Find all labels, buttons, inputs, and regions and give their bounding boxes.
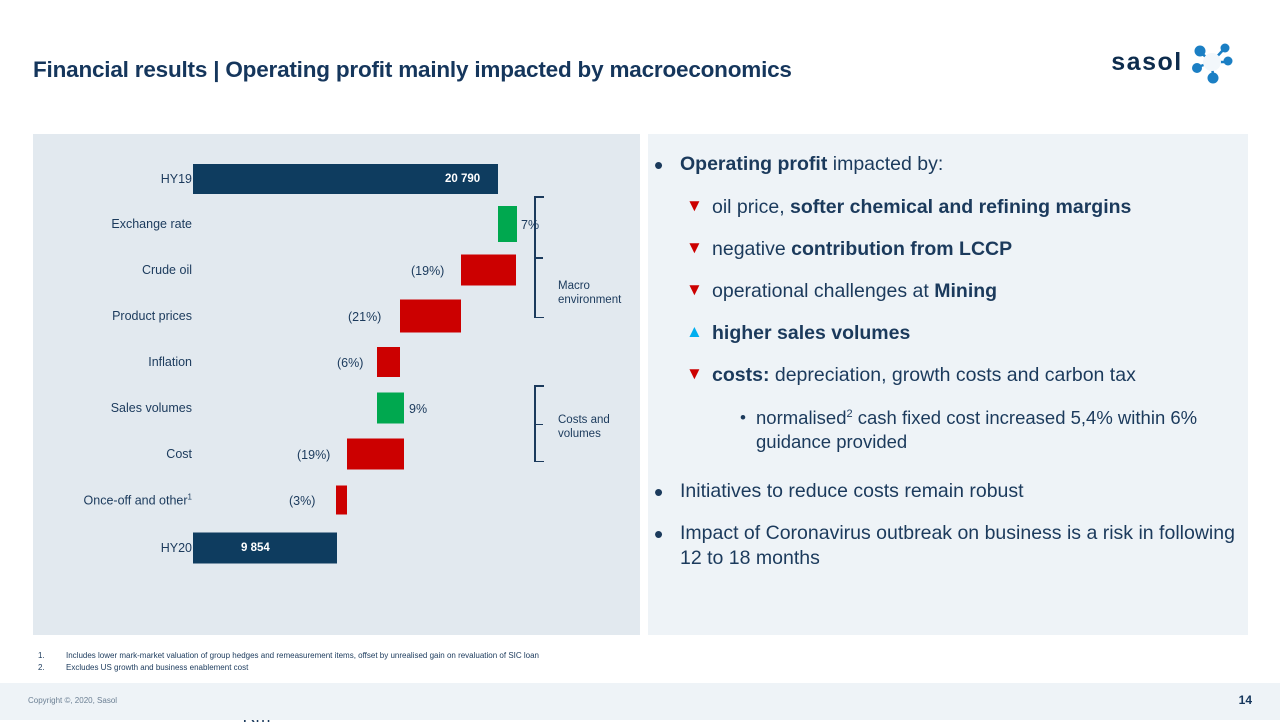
chart-value-label: (19%) <box>411 264 444 278</box>
chart-value-label: (21%) <box>348 310 381 324</box>
molecule-icon <box>1189 40 1235 84</box>
logo-wordmark: sasol <box>1111 48 1182 77</box>
page-title: Financial results | Operating profit mai… <box>33 57 792 83</box>
sub-bullet-text: negative contribution from LCCP <box>712 237 1012 262</box>
chart-category-label: Sales volumes <box>111 401 192 415</box>
bullet-text: Operating profit impacted by: <box>680 152 943 178</box>
footnote-text: Excludes US growth and business enableme… <box>66 662 248 674</box>
chart-value-label: 9% <box>409 402 427 416</box>
chart-bar-once-off <box>336 486 347 515</box>
bullet-text: Initiatives to reduce costs remain robus… <box>680 479 1024 505</box>
sub-bullet-text: higher sales volumes <box>712 321 910 346</box>
chart-bar-inflation <box>377 347 400 377</box>
footnote-number: 1. <box>38 650 66 662</box>
footnote-item: 2. Excludes US growth and business enabl… <box>38 662 798 674</box>
up-triangle-icon: ▲ <box>686 321 712 346</box>
chart-bar-cost <box>347 439 404 470</box>
bullet-dot-icon: • <box>654 521 680 572</box>
chart-value-label: 7% <box>521 218 539 232</box>
chart-value-label: (6%) <box>337 356 363 370</box>
chart-category-label: Inflation <box>148 355 192 369</box>
chart-plot-area: HY19 Exchange rate Crude oil Product pri… <box>33 134 640 635</box>
chart-value-label: (3%) <box>289 494 315 508</box>
chart-category-label: HY19 <box>161 172 192 186</box>
bullet-operating-profit: • Operating profit impacted by: <box>654 152 943 178</box>
bullet-dot-icon: • <box>654 479 680 505</box>
down-triangle-icon: ▼ <box>686 279 712 304</box>
chart-bar-product-prices <box>400 300 461 333</box>
bracket-label-costs-and-volumes: Costs and volumes <box>558 413 610 442</box>
chart-value-label: (19%) <box>297 448 330 462</box>
sub-bullet-normalised-cost: • normalised2 cash fixed cost increased … <box>730 406 1230 454</box>
footnotes: 1. Includes lower mark-market valuation … <box>38 650 798 673</box>
bullet-coronavirus: • Impact of Coronavirus outbreak on busi… <box>654 521 1239 572</box>
small-dot-icon: • <box>730 406 756 454</box>
footnote-item: 1. Includes lower mark-market valuation … <box>38 650 798 662</box>
chart-category-label: Cost <box>166 447 192 461</box>
sub-bullet-text: normalised2 cash fixed cost increased 5,… <box>756 406 1230 454</box>
sub-bullet-costs: ▼ costs: depreciation, growth costs and … <box>686 363 1136 388</box>
page-number: 14 <box>1239 693 1252 707</box>
down-triangle-icon: ▼ <box>686 237 712 262</box>
copyright-text: Copyright ©, 2020, Sasol <box>28 696 117 705</box>
sasol-logo: sasol <box>1098 31 1248 93</box>
chart-value-label: 9 854 <box>241 542 270 554</box>
sub-bullet-sales-volumes: ▲ higher sales volumes <box>686 321 910 346</box>
bullet-dot-icon: • <box>654 152 680 178</box>
sub-bullet-mining: ▼ operational challenges at Mining <box>686 279 997 304</box>
bullet-initiatives: • Initiatives to reduce costs remain rob… <box>654 479 1024 505</box>
chart-category-label: Exchange rate <box>111 217 192 231</box>
chart-bar-exchange-rate <box>498 206 517 242</box>
waterfall-chart-panel: HY19 Exchange rate Crude oil Product pri… <box>33 134 640 635</box>
footer-bar <box>0 683 1280 720</box>
chart-value-label: 20 790 <box>445 173 480 185</box>
sub-bullet-lccp: ▼ negative contribution from LCCP <box>686 237 1012 262</box>
commentary-panel: • Operating profit impacted by: ▼ oil pr… <box>648 134 1248 635</box>
chart-category-label: Crude oil <box>142 263 192 277</box>
sub-bullet-text: operational challenges at Mining <box>712 279 997 304</box>
bullet-text: Impact of Coronavirus outbreak on busine… <box>680 521 1239 572</box>
down-triangle-icon: ▼ <box>686 363 712 388</box>
footnote-text: Includes lower mark-market valuation of … <box>66 650 539 662</box>
chart-bar-sales-volumes <box>377 393 404 424</box>
chart-category-label: HY20 <box>161 541 192 555</box>
sub-bullet-text: costs: depreciation, growth costs and ca… <box>712 363 1136 388</box>
footnote-number: 2. <box>38 662 66 674</box>
chart-category-label: Product prices <box>112 309 192 323</box>
bracket-label-macro-environment: Macro environment <box>558 279 621 308</box>
sub-bullet-oil-price: ▼ oil price, softer chemical and refinin… <box>686 195 1131 220</box>
chart-bar-crude-oil <box>461 255 516 286</box>
down-triangle-icon: ▼ <box>686 195 712 220</box>
sub-bullet-text: oil price, softer chemical and refining … <box>712 195 1131 220</box>
chart-category-label: Once-off and other1 <box>84 492 192 507</box>
